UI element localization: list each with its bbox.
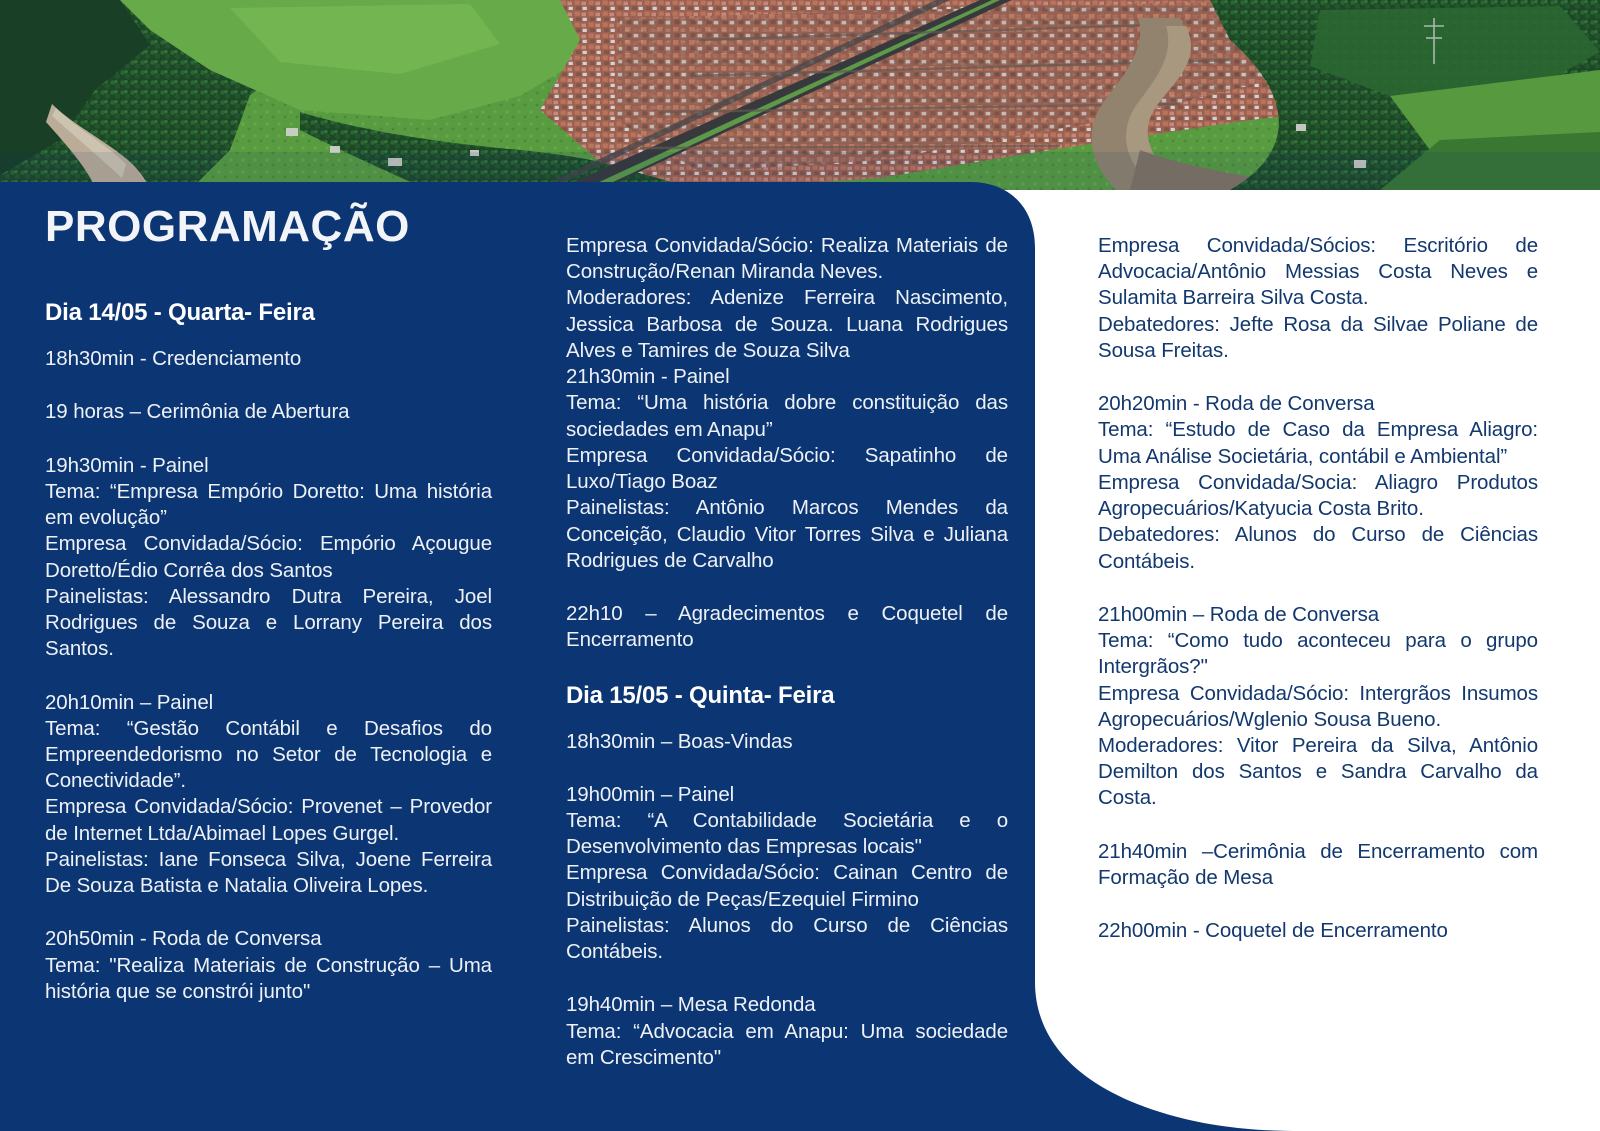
schedule-line: 19 horas – Cerimônia de Abertura xyxy=(45,399,492,425)
schedule-line: 21h30min - Painel xyxy=(566,364,1008,390)
schedule-line: 19h00min – Painel xyxy=(566,782,1008,808)
schedule-line: 18h30min – Boas-Vindas xyxy=(566,729,1008,755)
schedule-line: 21h00min – Roda de Conversa xyxy=(1098,602,1538,628)
schedule-line: Painelistas: Antônio Marcos Mendes da Co… xyxy=(566,495,1008,574)
schedule-item: 18h30min – Boas-Vindas xyxy=(566,729,1008,755)
schedule-line: 22h00min - Coquetel de Encerramento xyxy=(1098,918,1538,944)
column-one: PROGRAMAÇÃO Dia 14/05 - Quarta- Feira 18… xyxy=(45,182,492,1005)
schedule-item: 20h50min - Roda de Conversa Tema: "Reali… xyxy=(45,926,492,1005)
schedule-line: Tema: “Como tudo aconteceu para o grupo … xyxy=(1098,628,1538,680)
schedule-line: 20h20min - Roda de Conversa xyxy=(1098,391,1538,417)
column-two: Empresa Convidada/Sócio: Realiza Materia… xyxy=(566,182,1008,1071)
programme-content: PROGRAMAÇÃO Dia 14/05 - Quarta- Feira 18… xyxy=(0,182,1600,1131)
schedule-line: Debatedores: Jefte Rosa da Silvae Polian… xyxy=(1098,312,1538,364)
schedule-item: 18h30min - Credenciamento xyxy=(45,346,492,372)
schedule-line: Painelistas: Iane Fonseca Silva, Joene F… xyxy=(45,847,492,899)
schedule-line: Moderadores: Adenize Ferreira Nascimento… xyxy=(566,285,1008,364)
schedule-line: Empresa Convidada/Sócio: Provenet – Prov… xyxy=(45,794,492,846)
schedule-item: 19h00min – Painel Tema: “A Contabilidade… xyxy=(566,782,1008,966)
poster-root: PROGRAMAÇÃO Dia 14/05 - Quarta- Feira 18… xyxy=(0,0,1600,1131)
schedule-line: Tema: “A Contabilidade Societária e o De… xyxy=(566,808,1008,860)
schedule-item: 21h40min –Cerimônia de Encerramento com … xyxy=(1098,839,1538,891)
schedule-line: Tema: “Advocacia em Anapu: Uma sociedade… xyxy=(566,1019,1008,1071)
schedule-line: 22h10 – Agradecimentos e Coquetel de Enc… xyxy=(566,601,1008,653)
schedule-line: Painelistas: Alunos do Curso de Ciências… xyxy=(566,913,1008,965)
schedule-line: Empresa Convidada/Sócio: Sapatinho de Lu… xyxy=(566,443,1008,495)
schedule-line: Empresa Convidada/Sócios: Escritório de … xyxy=(1098,233,1538,312)
aerial-photo-illustration xyxy=(0,0,1600,190)
schedule-item: 22h10 – Agradecimentos e Coquetel de Enc… xyxy=(566,601,1008,653)
schedule-line: 18h30min - Credenciamento xyxy=(45,346,492,372)
schedule-item: 20h10min – Painel Tema: “Gestão Contábil… xyxy=(45,690,492,900)
schedule-item: 19h30min - Painel Tema: “Empresa Empório… xyxy=(45,453,492,663)
schedule-line: 21h40min –Cerimônia de Encerramento com … xyxy=(1098,839,1538,891)
schedule-item: 19 horas – Cerimônia de Abertura xyxy=(45,399,492,425)
schedule-item: 22h00min - Coquetel de Encerramento xyxy=(1098,918,1538,944)
schedule-line: Tema: “Uma história dobre constituição d… xyxy=(566,390,1008,442)
schedule-item: Empresa Convidada/Sócios: Escritório de … xyxy=(1098,233,1538,364)
schedule-item: Empresa Convidada/Sócio: Realiza Materia… xyxy=(566,233,1008,574)
schedule-line: 20h50min - Roda de Conversa xyxy=(45,926,492,952)
schedule-item: 19h40min – Mesa Redonda Tema: “Advocacia… xyxy=(566,992,1008,1071)
schedule-line: 19h40min – Mesa Redonda xyxy=(566,992,1008,1018)
schedule-item: 21h00min – Roda de Conversa Tema: “Como … xyxy=(1098,602,1538,812)
schedule-line: 20h10min – Painel xyxy=(45,690,492,716)
schedule-line: Tema: "Realiza Materiais de Construção –… xyxy=(45,953,492,1005)
schedule-line: Empresa Convidada/Sócio: Realiza Materia… xyxy=(566,233,1008,285)
schedule-line: Empresa Convidada/Sócio: Intergrãos Insu… xyxy=(1098,681,1538,733)
schedule-line: Empresa Convidada/Sócio: Empório Açougue… xyxy=(45,531,492,583)
day-header-15-05: Dia 15/05 - Quinta- Feira xyxy=(566,681,1008,711)
schedule-line: Empresa Convidada/Sócio: Cainan Centro d… xyxy=(566,860,1008,912)
schedule-line: Tema: “Empresa Empório Doretto: Uma hist… xyxy=(45,479,492,531)
column-three: Empresa Convidada/Sócios: Escritório de … xyxy=(1098,182,1538,944)
day-header-14-05: Dia 14/05 - Quarta- Feira xyxy=(45,298,492,328)
schedule-line: Tema: “Estudo de Caso da Empresa Aliagro… xyxy=(1098,417,1538,469)
schedule-line: 19h30min - Painel xyxy=(45,453,492,479)
schedule-line: Moderadores: Vitor Pereira da Silva, Ant… xyxy=(1098,733,1538,812)
page-title: PROGRAMAÇÃO xyxy=(45,204,492,250)
schedule-item: 20h20min - Roda de Conversa Tema: “Estud… xyxy=(1098,391,1538,575)
header-aerial-photo xyxy=(0,0,1600,190)
schedule-line: Debatedores: Alunos do Curso de Ciências… xyxy=(1098,522,1538,574)
schedule-line: Tema: “Gestão Contábil e Desafios do Emp… xyxy=(45,716,492,795)
schedule-line: Painelistas: Alessandro Dutra Pereira, J… xyxy=(45,584,492,663)
schedule-line: Empresa Convidada/Socia: Aliagro Produto… xyxy=(1098,470,1538,522)
